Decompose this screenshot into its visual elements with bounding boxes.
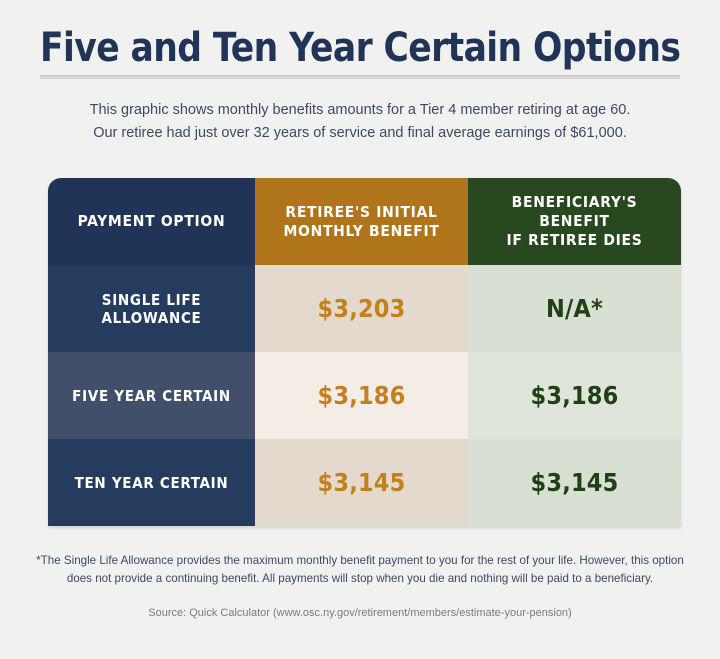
row-retiree-benefit-cell: $3,203 [255,265,468,352]
subtitle-line-1: This graphic shows monthly benefits amou… [60,99,660,122]
benefits-table: PAYMENT OPTION RETIREE'S INITIAL MONTHLY… [48,178,681,526]
row-option-label: TEN YEAR CERTAIN [48,439,255,526]
row-beneficiary-benefit-value: $3,145 [531,468,619,497]
column-header-beneficiary-benefit-line-1: BENEFICIARY'S BENEFIT [476,193,673,231]
column-header-beneficiary-benefit-line-2: IF RETIREE DIES [476,231,673,250]
table-body: SINGLE LIFE ALLOWANCE $3,203 N/A* FIVE Y… [48,265,681,526]
title-block: Five and Ten Year Certain Options [0,0,720,79]
page-title: Five and Ten Year Certain Options [40,26,654,70]
row-retiree-benefit-value: $3,186 [318,381,406,410]
table-header-row: PAYMENT OPTION RETIREE'S INITIAL MONTHLY… [48,178,681,265]
footnote: *The Single Life Allowance provides the … [36,552,684,588]
subtitle-line-2: Our retiree had just over 32 years of se… [60,122,660,145]
title-divider [40,75,680,79]
row-beneficiary-benefit-cell: $3,145 [468,439,681,526]
row-option-label: SINGLE LIFE ALLOWANCE [48,265,255,352]
table-row: FIVE YEAR CERTAIN $3,186 $3,186 [48,352,681,439]
column-header-retiree-benefit-line-1: RETIREE'S INITIAL [283,203,439,222]
column-header-retiree-benefit: RETIREE'S INITIAL MONTHLY BENEFIT [255,178,468,265]
table-row: TEN YEAR CERTAIN $3,145 $3,145 [48,439,681,526]
column-header-payment-option-label: PAYMENT OPTION [78,212,226,231]
row-beneficiary-benefit-cell: $3,186 [468,352,681,439]
row-retiree-benefit-value: $3,145 [318,468,406,497]
row-beneficiary-benefit-value: $3,186 [531,381,619,410]
row-beneficiary-benefit-value: N/A* [546,294,603,323]
subtitle: This graphic shows monthly benefits amou… [60,99,660,145]
column-header-payment-option: PAYMENT OPTION [48,178,255,265]
row-beneficiary-benefit-cell: N/A* [468,265,681,352]
column-header-beneficiary-benefit: BENEFICIARY'S BENEFIT IF RETIREE DIES [468,178,681,265]
column-header-retiree-benefit-line-2: MONTHLY BENEFIT [283,222,439,241]
row-option-label: FIVE YEAR CERTAIN [48,352,255,439]
infographic-root: Five and Ten Year Certain Options This g… [0,0,720,659]
row-retiree-benefit-value: $3,203 [318,294,406,323]
row-retiree-benefit-cell: $3,186 [255,352,468,439]
row-retiree-benefit-cell: $3,145 [255,439,468,526]
table-row: SINGLE LIFE ALLOWANCE $3,203 N/A* [48,265,681,352]
source-line: Source: Quick Calculator (www.osc.ny.gov… [36,607,684,619]
